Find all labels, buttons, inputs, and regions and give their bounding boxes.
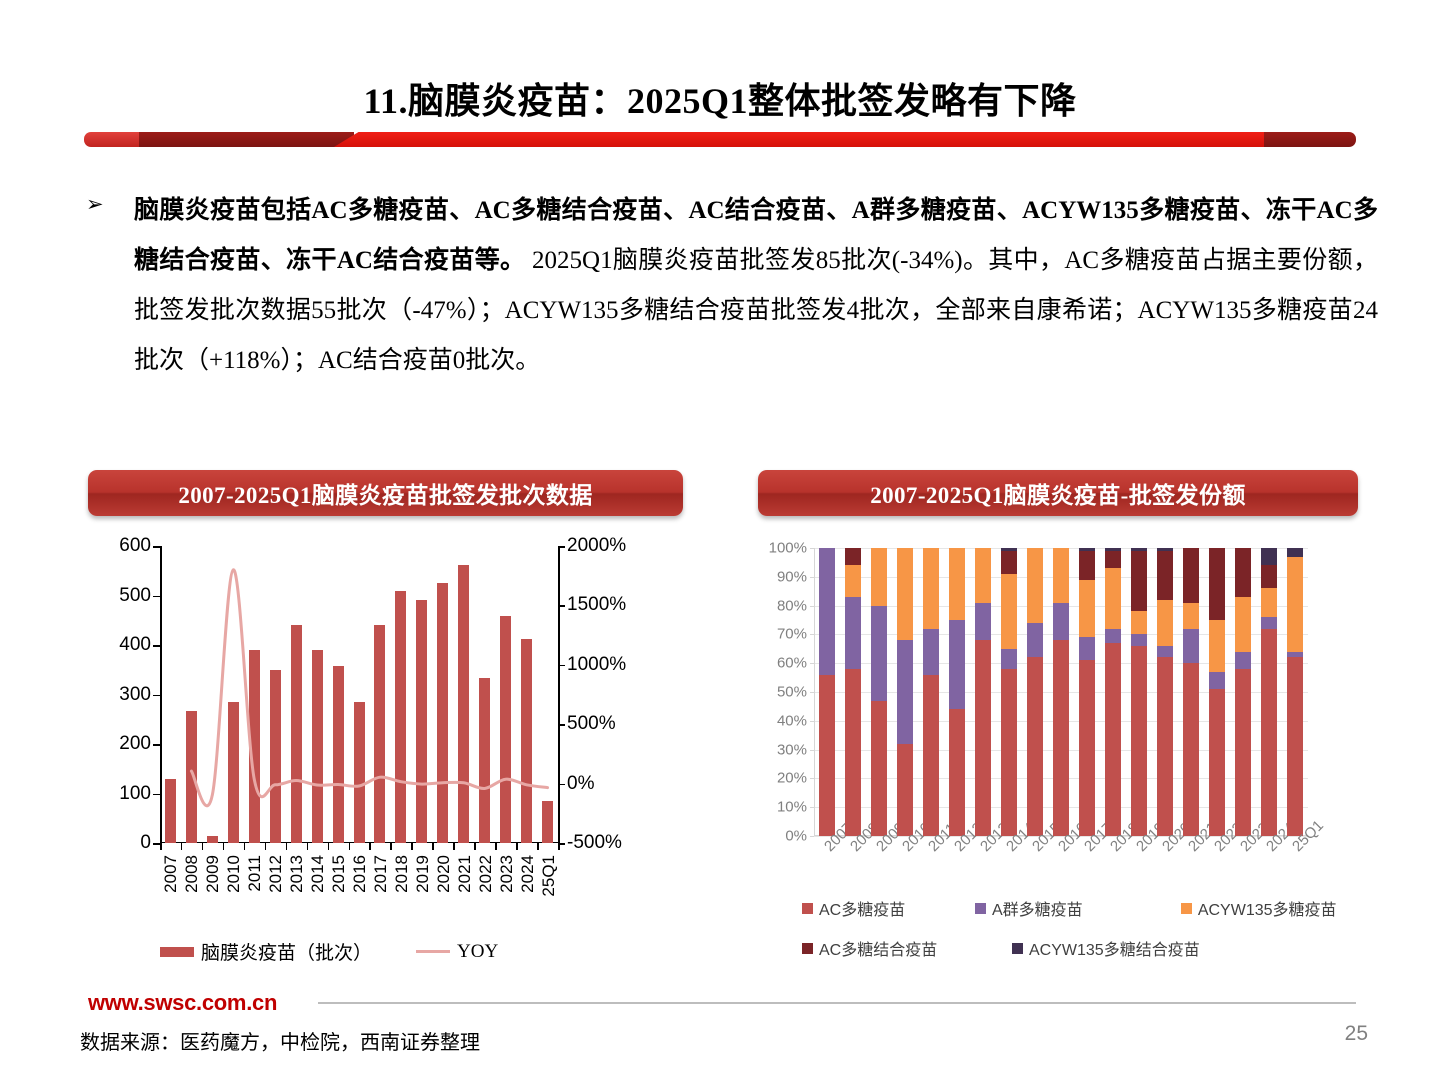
legend-item-yoy: YOY [416,941,498,963]
batches-x-tick [244,843,246,850]
share-bar-segment [1027,623,1043,658]
batches-y-tick-label: 500 [119,585,151,607]
share-bar-segment [871,606,887,701]
share-legend-label: ACYW135多糖结合疫苗 [1029,936,1200,960]
share-bar-segment [1209,672,1225,689]
legend-swatch-bar-icon [160,947,194,957]
share-bar-segment [1053,640,1069,836]
batches-x-tick-label: 2017 [371,855,391,893]
batches-x-tick-label: 2012 [266,855,286,893]
share-bar-segment [975,603,991,640]
share-bar-segment [1261,565,1277,588]
batches-x-tick-label: 2011 [245,855,265,892]
batches-x-tick [223,843,225,850]
batches-y-tick [153,596,160,598]
share-y-tick-label: 20% [777,770,807,787]
share-bar-segment [1105,551,1121,568]
batches-x-tick [160,843,162,850]
share-y-tick-label: 80% [777,597,807,614]
bullet-paragraph: ➢ 脑膜炎疫苗包括AC多糖疫苗、AC多糖结合疫苗、AC结合疫苗、A群多糖疫苗、A… [86,186,1378,386]
share-y-tick-label: 0% [785,828,807,845]
batches-y-tick-label: 0 [140,832,151,854]
share-y-tick-label: 40% [777,712,807,729]
share-bar-segment [975,640,991,836]
left-chart-panel: 2007-2025Q1脑膜炎疫苗批签发批次数据 0100200300400500… [88,470,683,1008]
share-bar-segment [1131,634,1147,646]
title-bar-segment-dark-2 [1264,132,1356,147]
share-stacked-bar [1131,548,1147,836]
share-bar-segment [1027,548,1043,623]
share-legend: AC多糖疫苗A群多糖疫苗ACYW135多糖疫苗AC多糖结合疫苗ACYW135多糖… [802,896,1362,976]
batches-y2-tick [558,784,565,786]
batches-y2-tick [558,605,565,607]
page-number: 25 [1345,1022,1368,1046]
batches-y-tick-label: 300 [119,684,151,706]
share-bar-segment [1261,617,1277,629]
share-y-tick-label: 50% [777,684,807,701]
batches-y2-tick [558,665,565,667]
share-bar-segment [1105,568,1121,628]
batches-x-tick [432,843,434,850]
batches-x-tick [286,843,288,850]
share-stacked-bar [897,548,913,836]
share-stacked-bar [949,548,965,836]
batches-x-tick [495,843,497,850]
batches-x-tick-label: 2024 [518,855,538,893]
batches-x-tick [181,843,183,850]
share-stacked-bar [1027,548,1043,836]
batches-x-tick-label: 2021 [455,855,475,893]
batches-y-tick [153,546,160,548]
share-y-tick [810,836,814,837]
legend-label-batches: 脑膜炎疫苗（批次） [201,938,372,965]
share-bar-segment [1183,603,1199,629]
share-bar-segment [1183,663,1199,836]
share-legend-swatch-icon [1181,903,1192,914]
share-bar-segment [1235,669,1251,836]
batches-y2-tick-label: 1500% [567,594,626,616]
batches-y-tick [153,794,160,796]
batches-y-tick-label: 200 [119,733,151,755]
share-bar-segment [1261,548,1277,565]
share-bar-segment [1001,551,1017,574]
share-bar-segment [1105,643,1121,836]
legend-swatch-line-icon [416,950,450,953]
batches-secondary-y-axis [558,546,560,843]
share-bar-segment [923,548,939,629]
share-stacked-bar [1235,548,1251,836]
batches-x-tick-label: 2013 [287,855,307,893]
share-stacked-bar [1079,548,1095,836]
share-bar-segment [1287,657,1303,836]
bullet-arrow-icon: ➢ [86,192,104,216]
share-bar-segment [1053,603,1069,640]
share-bar-segment [1209,689,1225,836]
batches-x-tick [516,843,518,850]
footer-website-url[interactable]: www.swsc.com.cn [88,990,277,1016]
share-stacked-bar [1209,548,1225,836]
share-bar-segment [1209,620,1225,672]
footer-data-source: 数据来源：医药魔方，中检院，西南证券整理 [80,1026,480,1055]
batches-y-tick-label: 400 [119,634,151,656]
batches-x-tick-label: 2020 [434,855,454,893]
share-stacked-bar [975,548,991,836]
title-accent-bar [84,132,1356,147]
batches-y2-tick-label: -500% [567,832,622,854]
batches-y2-tick-label: 500% [567,713,616,735]
title-bar-segment-dark-1 [139,132,354,147]
batches-x-tick [558,843,560,850]
share-bar-segment [949,620,965,709]
batches-y-tick-label: 100 [119,783,151,805]
share-y-tick-label: 90% [777,568,807,585]
share-legend-item: AC多糖结合疫苗 [802,936,1012,960]
right-chart-panel: 2007-2025Q1脑膜炎疫苗-批签发份额 0%10%20%30%40%50%… [758,470,1358,1008]
batches-y2-tick-label: 1000% [567,654,626,676]
share-bar-segment [1209,548,1225,620]
share-bar-segment [845,597,861,669]
share-bar-segment [949,709,965,836]
share-legend-swatch-icon [975,903,986,914]
batches-x-tick-label: 2015 [329,855,349,893]
share-bar-segment [1131,551,1147,611]
share-bar-segment [1079,580,1095,638]
share-stacked-bar [1261,548,1277,836]
batches-x-tick-label: 2022 [476,855,496,893]
batches-plot-area: 0100200300400500600-500%0%500%1000%1500%… [160,546,558,843]
batches-x-tick-label: 2014 [308,855,328,893]
share-chart: 0%10%20%30%40%50%60%70%80%90%100%2007200… [758,538,1358,1008]
share-y-tick-label: 100% [769,540,807,557]
share-bar-segment [819,548,835,675]
batches-x-tick-label: 2008 [182,855,202,893]
share-bar-segment [1235,548,1251,597]
share-bar-segment [1079,637,1095,660]
share-bar-segment [975,548,991,603]
batches-x-tick [411,843,413,850]
batches-y2-tick-label: 2000% [567,535,626,557]
page-title: 11.脑膜炎疫苗：2025Q1整体批签发略有下降 [0,72,1440,124]
share-legend-item: A群多糖疫苗 [975,896,1181,920]
share-bar-segment [871,701,887,836]
batches-x-tick [328,843,330,850]
share-bar-segment [1001,669,1017,836]
share-bar-segment [1079,551,1095,580]
batches-x-tick-label: 2010 [224,855,244,893]
share-bar-segment [819,675,835,836]
share-legend-label: AC多糖结合疫苗 [819,936,937,960]
yoy-line-series [160,546,558,843]
title-bar-segment-middle [334,132,1314,147]
share-bar-segment [845,565,861,597]
share-bar-segment [1131,646,1147,836]
batches-x-tick [390,843,392,850]
share-bar-segment [1287,557,1303,652]
share-legend-swatch-icon [802,943,813,954]
batches-x-tick [369,843,371,850]
share-y-tick-label: 30% [777,741,807,758]
share-bar-segment [1157,551,1173,600]
share-bar-segment [871,548,887,606]
share-bar-segment [1157,646,1173,658]
share-y-axis [814,548,815,836]
share-bar-segment [897,548,913,640]
batches-x-tick-label: 2018 [392,855,412,893]
share-legend-row: AC多糖疫苗A群多糖疫苗ACYW135多糖疫苗 [802,896,1362,920]
share-bar-segment [1235,597,1251,652]
legend-item-batches: 脑膜炎疫苗（批次） [160,938,372,965]
batches-y2-tick [558,724,565,726]
share-y-tick-label: 70% [777,626,807,643]
batches-x-tick [202,843,204,850]
footer-divider [318,1002,1356,1004]
batches-x-tick [349,843,351,850]
batches-x-tick-label: 2007 [161,855,181,893]
batches-x-tick-label: 2009 [203,855,223,893]
yoy-line-path [191,570,547,806]
share-stacked-bar [923,548,939,836]
right-chart-title: 2007-2025Q1脑膜炎疫苗-批签发份额 [758,470,1358,516]
share-stacked-bar [845,548,861,836]
batches-x-tick [265,843,267,850]
share-bar-segment [1027,657,1043,836]
batches-legend: 脑膜炎疫苗（批次） YOY [160,938,560,965]
share-bar-segment [1287,548,1303,557]
batches-x-tick-label: 2016 [350,855,370,893]
share-bar-segment [1261,588,1277,617]
share-legend-item: ACYW135多糖疫苗 [1181,896,1362,920]
batches-x-tick-label: 2019 [413,855,433,893]
share-plot-area: 0%10%20%30%40%50%60%70%80%90%100%2007200… [814,548,1308,836]
batches-y2-tick [558,546,565,548]
share-bar-segment [923,629,939,675]
batches-y-tick [153,744,160,746]
share-legend-label: AC多糖疫苗 [819,896,905,920]
batches-y-tick [153,645,160,647]
share-legend-label: ACYW135多糖疫苗 [1198,896,1337,920]
share-stacked-bar [1105,548,1121,836]
left-chart-title: 2007-2025Q1脑膜炎疫苗批签发批次数据 [88,470,683,516]
legend-label-yoy: YOY [457,941,498,963]
share-bar-segment [1261,629,1277,836]
share-legend-item: AC多糖疫苗 [802,896,975,920]
share-bar-segment [1183,629,1199,664]
share-legend-swatch-icon [1012,943,1023,954]
share-bar-segment [845,669,861,836]
batches-x-tick [453,843,455,850]
share-stacked-bar [1001,548,1017,836]
share-bar-segment [1079,660,1095,836]
share-stacked-bar [1157,548,1173,836]
batches-chart: 0100200300400500600-500%0%500%1000%1500%… [88,538,683,1008]
batches-x-tick-label: 2023 [497,855,517,893]
share-legend-item: ACYW135多糖结合疫苗 [1012,936,1262,960]
batches-x-tick [474,843,476,850]
batches-y-tick-label: 600 [119,535,151,557]
share-bar-segment [897,640,913,744]
batches-x-tick [537,843,539,850]
share-bar-segment [845,548,861,565]
share-bar-segment [1183,548,1199,603]
batches-x-tick-label: 25Q1 [539,855,559,897]
batches-y-tick [153,843,160,845]
title-bar-segment-left [84,132,139,147]
share-bar-segment [1131,611,1147,634]
share-bar-segment [1001,574,1017,649]
share-bar-segment [1001,649,1017,669]
share-bar-segment [1105,629,1121,643]
share-legend-swatch-icon [802,903,813,914]
share-y-tick-label: 10% [777,799,807,816]
share-stacked-bar [1053,548,1069,836]
share-stacked-bar [1183,548,1199,836]
share-legend-row: AC多糖结合疫苗ACYW135多糖结合疫苗 [802,936,1362,960]
share-legend-label: A群多糖疫苗 [992,896,1083,920]
batches-x-tick [307,843,309,850]
share-bar-segment [923,675,939,836]
share-y-tick-label: 60% [777,655,807,672]
share-stacked-bar [819,548,835,836]
share-bar-segment [897,744,913,836]
share-bar-segment [1053,548,1069,603]
share-stacked-bar [1287,548,1303,836]
share-bar-segment [1235,652,1251,669]
batches-y-tick [153,695,160,697]
share-stacked-bar [871,548,887,836]
share-bar-segment [1157,600,1173,646]
share-bar-segment [949,548,965,620]
share-bar-segment [1157,657,1173,836]
batches-y2-tick-label: 0% [567,773,594,795]
